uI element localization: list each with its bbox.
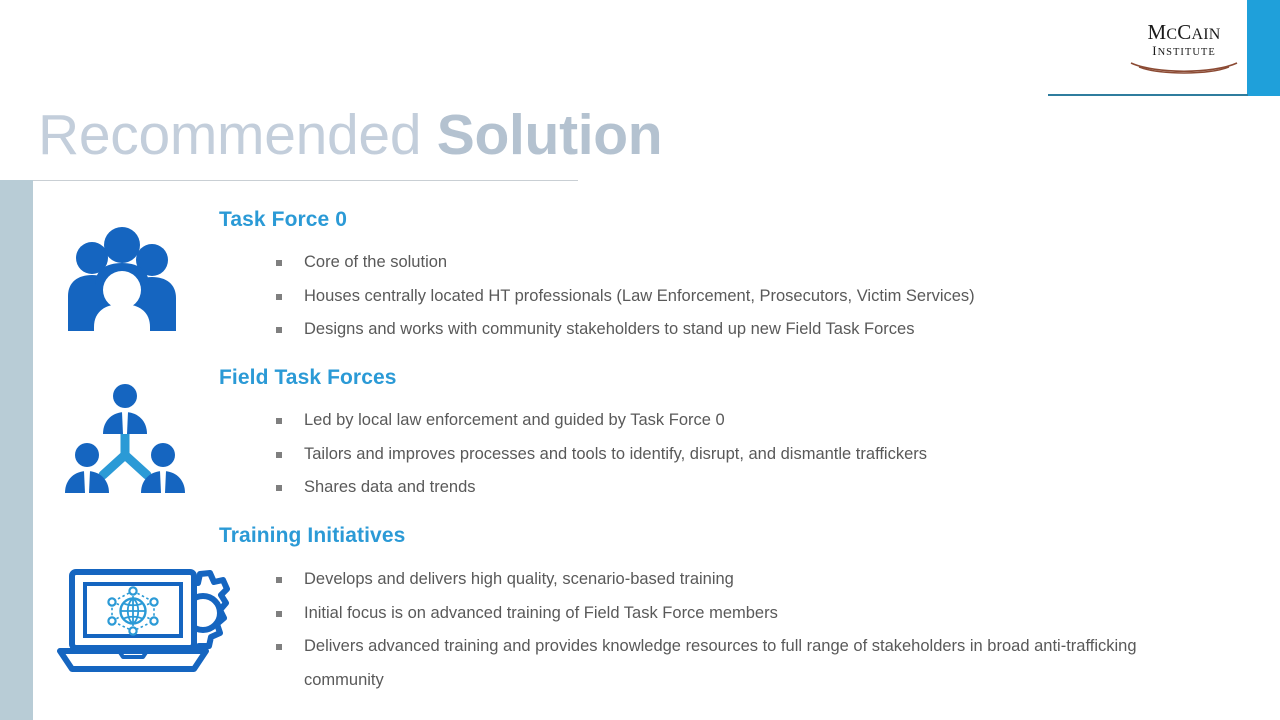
page-title-light: Recommended	[38, 103, 437, 167]
brand-divider-rule	[1048, 94, 1248, 96]
bullet-marker-icon	[276, 611, 282, 617]
bullet-list-training-initiatives: Develops and delivers high quality, scen…	[268, 563, 1138, 697]
bullet-item: Led by local law enforcement and guided …	[268, 404, 1098, 438]
section-heading-task-force-0: Task Force 0	[219, 208, 347, 232]
bullet-list-task-force-0: Core of the solution Houses centrally lo…	[268, 246, 1098, 347]
bullet-marker-icon	[276, 452, 282, 458]
group-of-people-icon	[63, 223, 181, 333]
logo-swoosh-icon	[1125, 60, 1243, 76]
bullet-item: Tailors and improves processes and tools…	[268, 438, 1098, 472]
section-heading-field-task-forces: Field Task Forces	[219, 366, 397, 390]
bullet-item: Shares data and trends	[268, 471, 1098, 505]
bullet-text: Tailors and improves processes and tools…	[304, 445, 927, 463]
title-underline-rule	[33, 180, 578, 181]
bullet-marker-icon	[276, 644, 282, 650]
bullet-marker-icon	[276, 577, 282, 583]
section-heading-training-initiatives: Training Initiatives	[219, 524, 405, 548]
org-chart-people-icon	[62, 383, 188, 501]
bullet-item: Core of the solution	[268, 246, 1098, 280]
logo-letters-ain: AIN	[1191, 26, 1220, 43]
bullet-marker-icon	[276, 327, 282, 333]
bullet-item: Develops and delivers high quality, scen…	[268, 563, 1138, 597]
bullet-text: Designs and works with community stakeho…	[304, 320, 914, 338]
brand-accent-bar	[1247, 0, 1280, 96]
logo-letter-c-small: C	[1166, 26, 1177, 43]
logo-letter-m: M	[1147, 20, 1166, 44]
bullet-list-field-task-forces: Led by local law enforcement and guided …	[268, 404, 1098, 505]
bullet-text: Initial focus is on advanced training of…	[304, 604, 778, 622]
bullet-item: Initial focus is on advanced training of…	[268, 597, 1138, 631]
bullet-marker-icon	[276, 294, 282, 300]
page-title-bold: Solution	[437, 103, 663, 167]
bullet-text: Develops and delivers high quality, scen…	[304, 570, 734, 588]
page-title: Recommended Solution	[38, 100, 662, 170]
bullet-marker-icon	[276, 485, 282, 491]
bullet-item: Delivers advanced training and provides …	[268, 630, 1138, 697]
bullet-text: Shares data and trends	[304, 478, 476, 496]
logo-letter-c: C	[1177, 20, 1191, 44]
bullet-text: Delivers advanced training and provides …	[304, 637, 1137, 689]
bullet-text: Led by local law enforcement and guided …	[304, 411, 725, 429]
bullet-text: Houses centrally located HT professional…	[304, 287, 975, 305]
left-accent-bar	[0, 180, 33, 720]
mccain-institute-logo: MCCAIN INSTITUTE	[1125, 22, 1243, 78]
bullet-item: Houses centrally located HT professional…	[268, 280, 1098, 314]
laptop-network-gear-icon	[57, 561, 232, 673]
slide: MCCAIN INSTITUTE Recommended Solution	[0, 0, 1280, 720]
logo-wordmark-mccain: MCCAIN	[1125, 22, 1243, 43]
bullet-marker-icon	[276, 418, 282, 424]
bullet-text: Core of the solution	[304, 253, 447, 271]
logo-wordmark-institute: INSTITUTE	[1125, 43, 1243, 59]
bullet-item: Designs and works with community stakeho…	[268, 313, 1098, 347]
bullet-marker-icon	[276, 260, 282, 266]
logo-letters-nstitute: NSTITUTE	[1158, 47, 1216, 58]
